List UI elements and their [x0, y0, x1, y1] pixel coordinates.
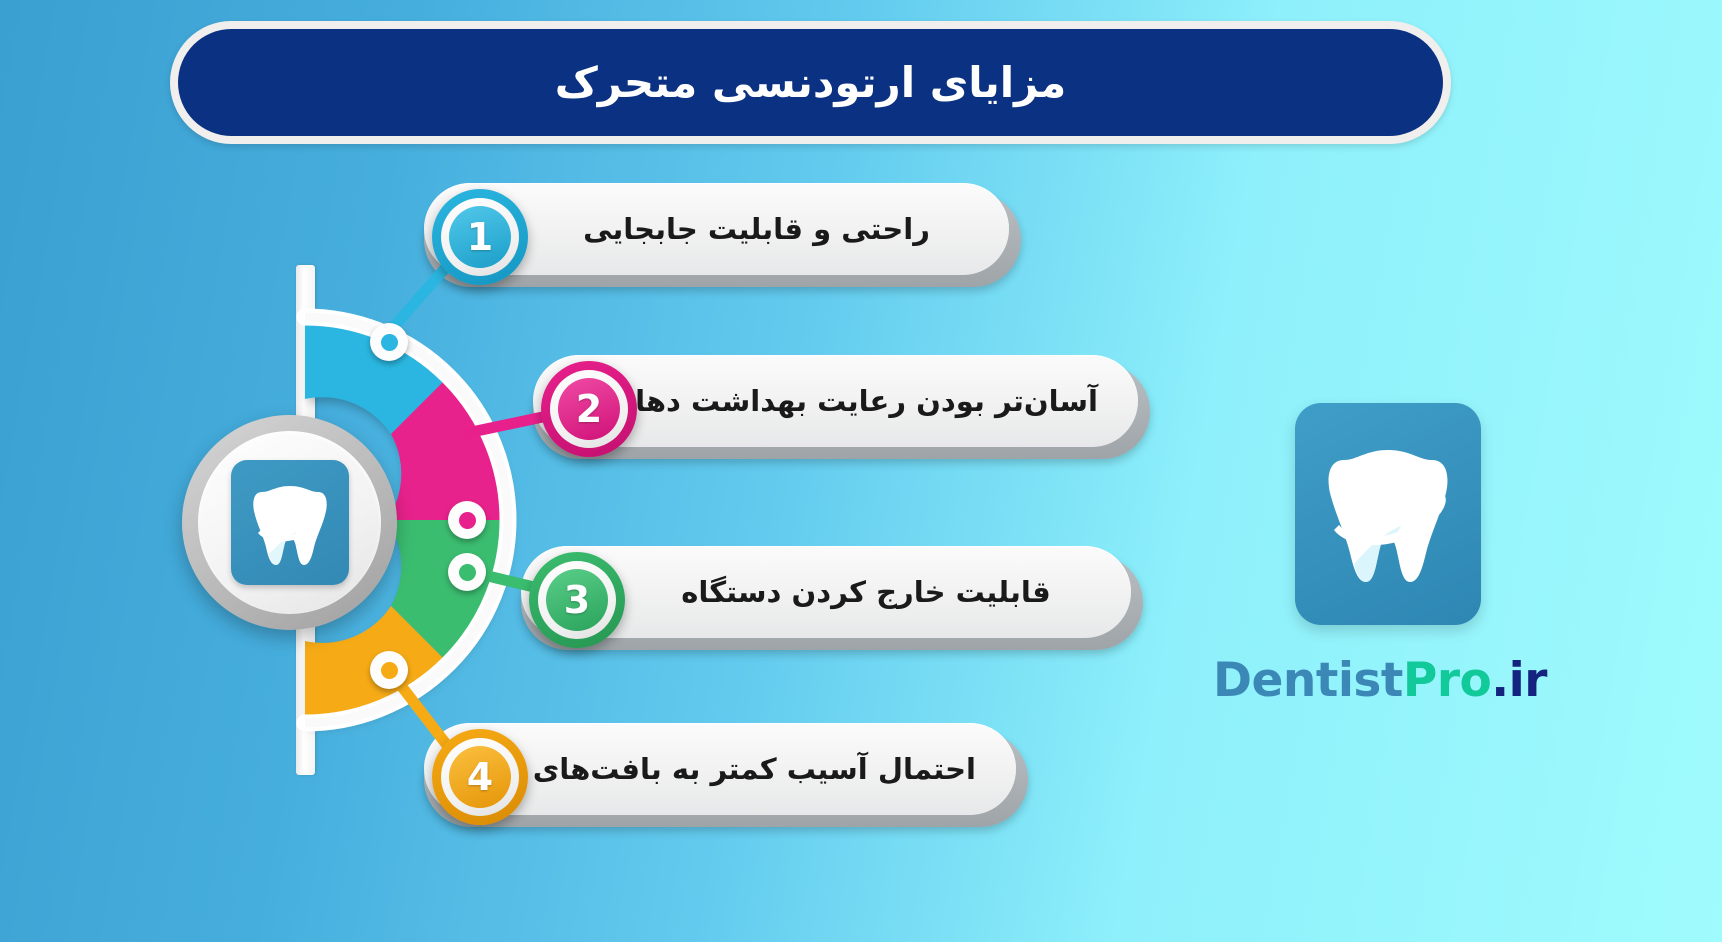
connector-node-4 — [370, 651, 408, 689]
row-1-badge-number: 1 — [449, 206, 511, 268]
row-4-badge[interactable]: 4 — [432, 729, 528, 825]
benefit-row-2[interactable]: آسان‌تر بودن رعایت بهداشت دهان 2 — [533, 355, 1150, 459]
row-3-badge-number: 3 — [546, 569, 608, 631]
connector-node-3 — [448, 553, 486, 591]
row-1-badge[interactable]: 1 — [432, 189, 528, 285]
benefit-row-3[interactable]: قابلیت خارج کردن دستگاه 3 — [521, 546, 1143, 650]
brand-name: DentistPro.ir — [1213, 653, 1481, 708]
brand-name-part2: Pro — [1403, 653, 1491, 708]
row-2-badge-ring: 2 — [550, 370, 628, 448]
row-2-badge-number: 2 — [558, 378, 620, 440]
brand-name-part3: .ir — [1491, 653, 1547, 708]
brand-tooth-logo-icon — [1295, 403, 1481, 625]
brand-block: DentistPro.ir — [1261, 403, 1481, 708]
row-4-badge-number: 4 — [449, 746, 511, 808]
row-3-badge-ring: 3 — [538, 561, 616, 639]
page-title-bar: مزایای ارتودنسی متحرک — [178, 29, 1443, 136]
tooth-logo-icon — [231, 460, 349, 585]
row-1-badge-ring: 1 — [441, 198, 519, 276]
hub-logo-frame — [182, 415, 397, 630]
benefit-row-4[interactable]: احتمال آسیب کمتر به بافت‌های نرم 4 — [424, 723, 1028, 827]
center-hub — [180, 255, 540, 785]
benefit-row-1[interactable]: راحتی و قابلیت جابجایی 1 — [424, 183, 1021, 287]
connector-node-2 — [448, 501, 486, 539]
page-title: مزایای ارتودنسی متحرک — [555, 58, 1067, 107]
page-title-banner: مزایای ارتودنسی متحرک — [170, 21, 1451, 144]
connector-node-1 — [370, 323, 408, 361]
row-4-badge-ring: 4 — [441, 738, 519, 816]
brand-name-part1: Dentist — [1213, 653, 1403, 708]
row-3-badge[interactable]: 3 — [529, 552, 625, 648]
hub-logo-inner-frame — [198, 431, 381, 614]
row-2-badge[interactable]: 2 — [541, 361, 637, 457]
